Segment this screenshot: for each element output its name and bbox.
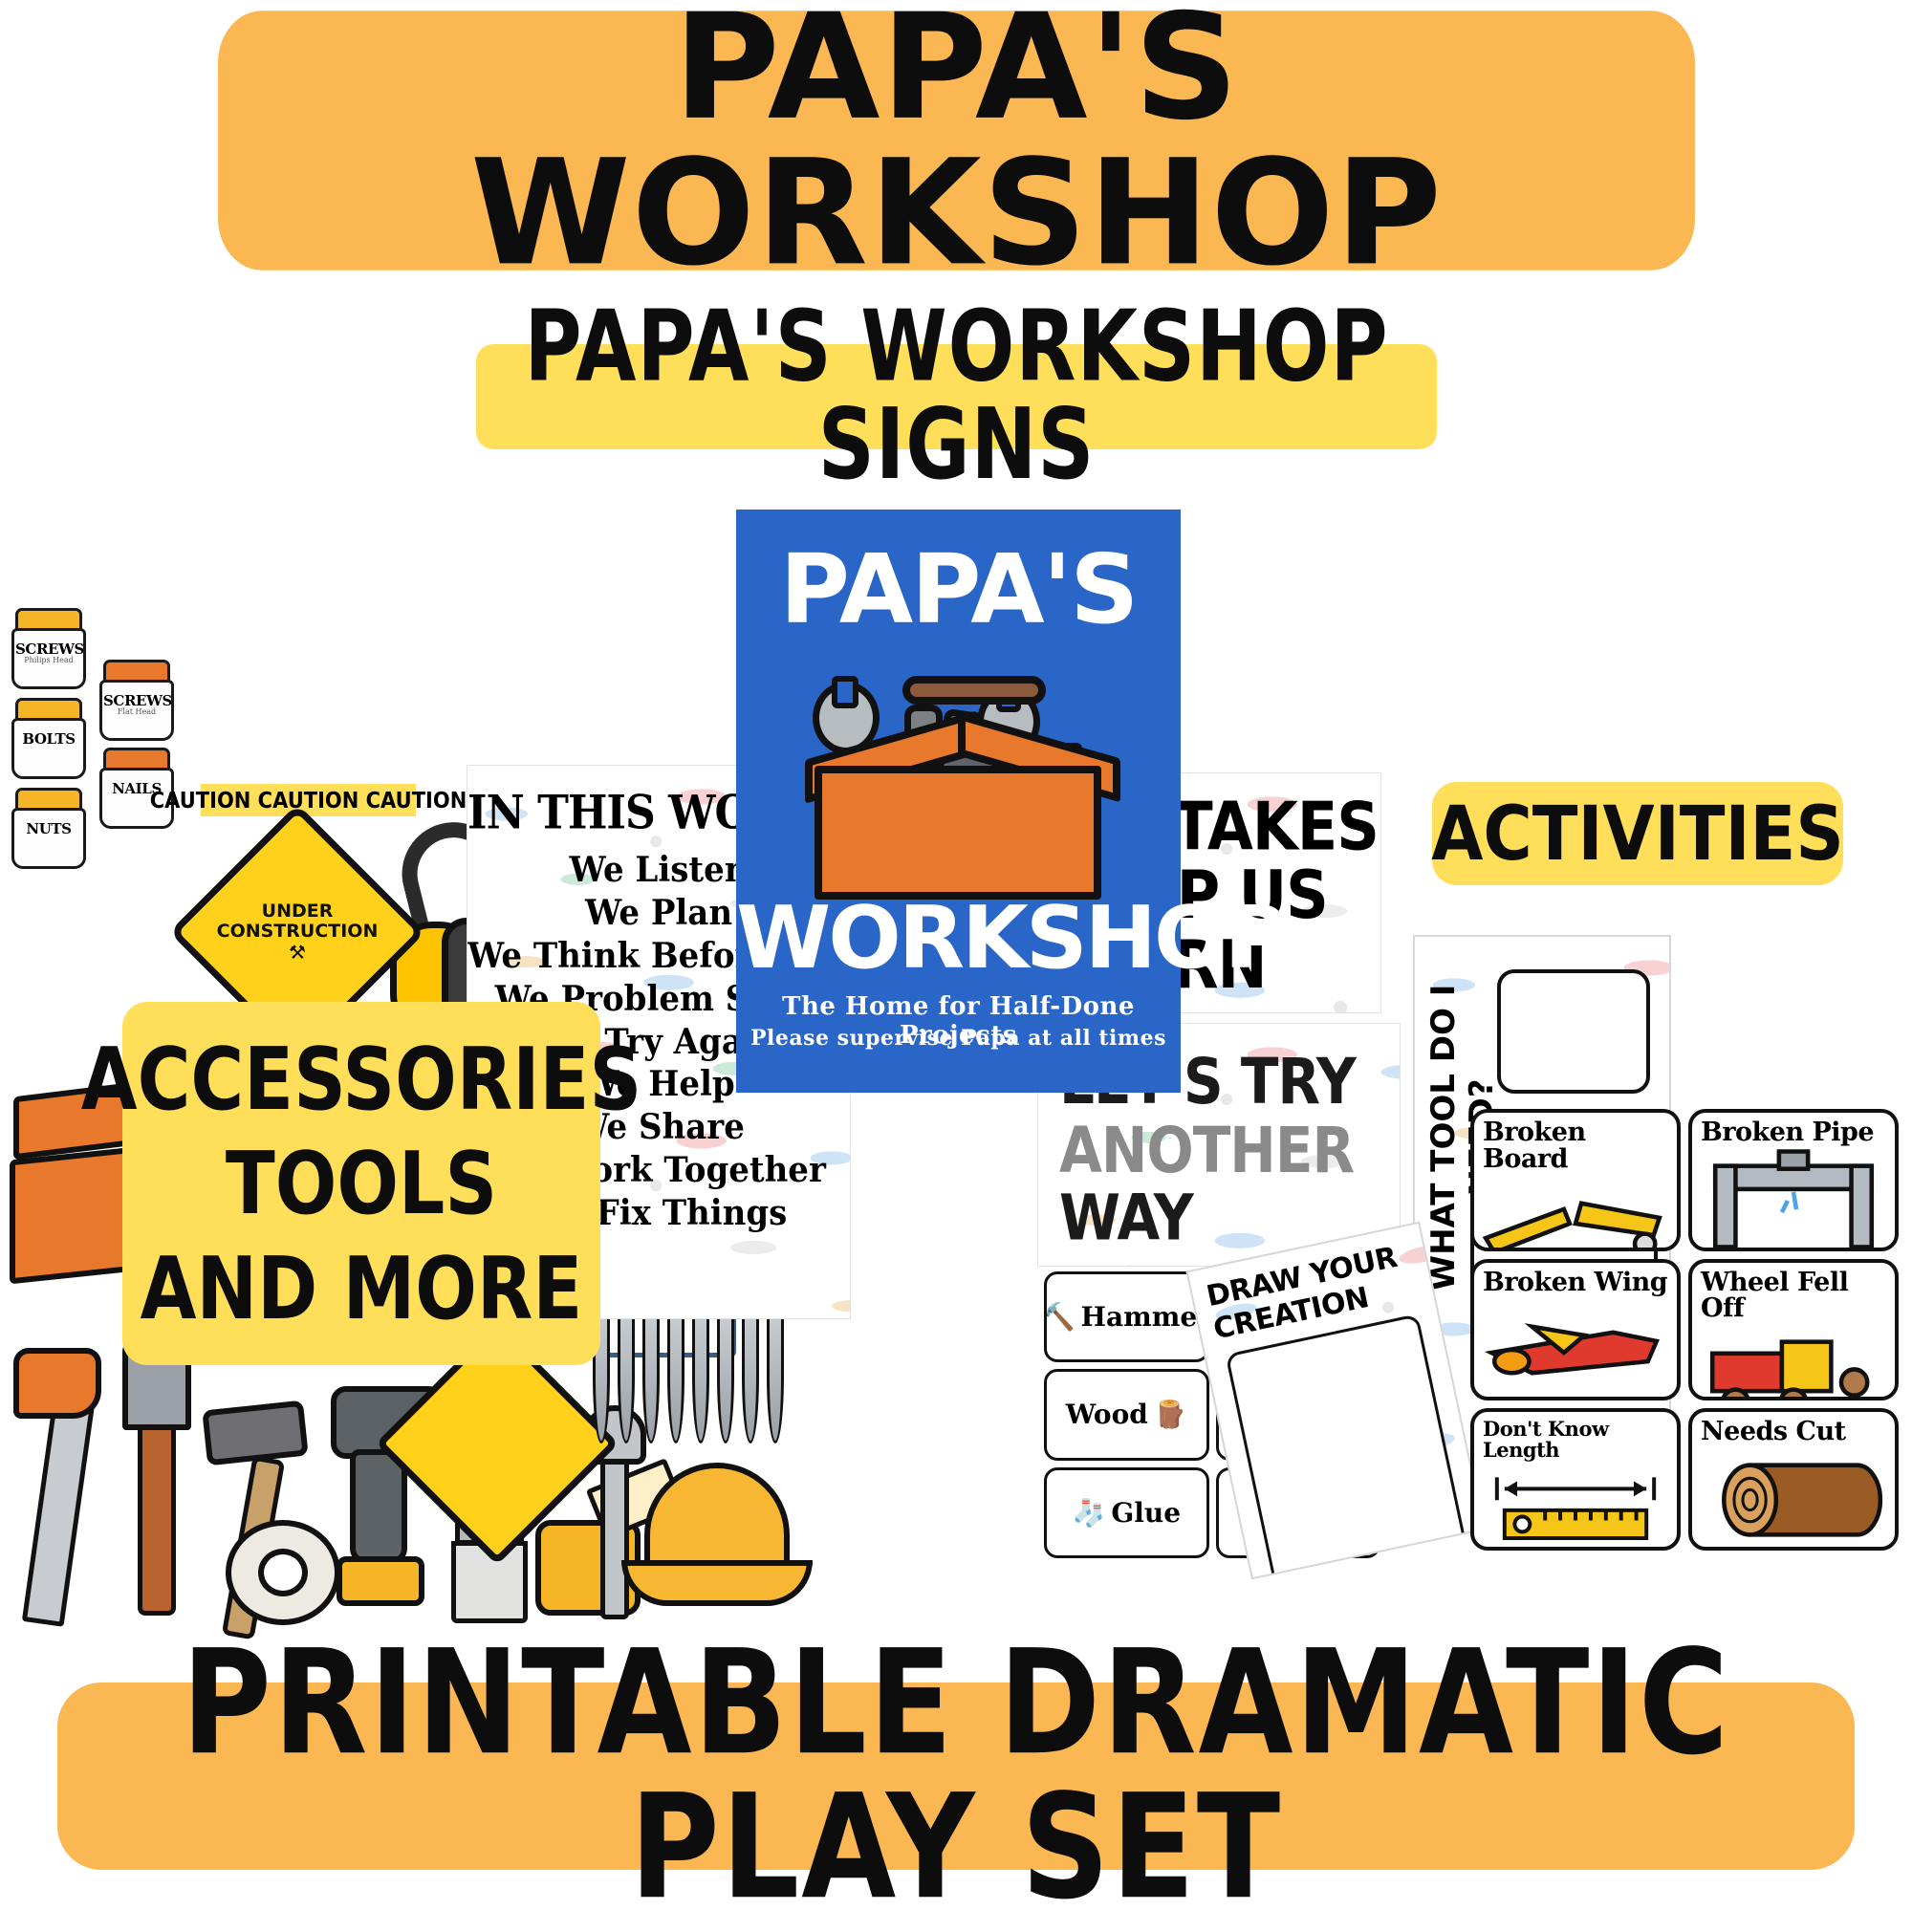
tape-roll-icon (226, 1520, 340, 1625)
problem-card-broken-pipe[interactable]: Broken Pipe (1688, 1109, 1899, 1251)
footer-title: PRINTABLE DRAMATIC PLAY SET (57, 1632, 1855, 1921)
problem-card-wheel-fell-off[interactable]: Wheel Fell Off (1688, 1259, 1899, 1401)
jar-bolts: BOLTS (8, 698, 90, 780)
jar-label: BOLTS (15, 730, 82, 748)
hard-hat-dome (644, 1463, 790, 1575)
subtitle-text: PAPA'S WORKSHOP SIGNS (476, 299, 1437, 495)
vocab-card-hammer[interactable]: 🔨 Hammer (1044, 1271, 1209, 1362)
uc-line-2: CONSTRUCTION (217, 922, 379, 942)
toolbox-body (815, 766, 1101, 900)
jar-sublabel: Philips Head (15, 656, 82, 664)
caution-diamond-sign (411, 1357, 583, 1530)
vocab-label: Hammer (1080, 1301, 1208, 1333)
jar-screws-flat: SCREWS Flat Head (96, 660, 178, 742)
pipe-wrench-icon (105, 1338, 210, 1625)
screw-icon (642, 1310, 660, 1444)
saw-handle (13, 1348, 101, 1419)
jar-sublabel: Flat Head (103, 707, 170, 716)
problem-card-dont-know-length[interactable]: Don't Know Length (1470, 1408, 1681, 1551)
screw-icon (618, 1310, 635, 1444)
problem-card-broken-wing[interactable]: Broken Wing (1470, 1259, 1681, 1401)
broken-skateboard-icon (1474, 1172, 1677, 1251)
hammer-icon: 🔨 (1044, 1301, 1075, 1333)
under-construction-sign: UNDER CONSTRUCTION ⚒ (206, 841, 388, 1023)
toolbox-handle (902, 676, 1046, 705)
jar-body (11, 808, 86, 869)
under-construction-text: UNDER CONSTRUCTION ⚒ (206, 841, 388, 1023)
jar-nuts: NUTS (8, 788, 90, 870)
vocab-card-wood[interactable]: Wood 🪵 (1044, 1369, 1209, 1460)
problem-label: Don't Know Length (1474, 1412, 1677, 1460)
poster-toolbox-illustration (790, 643, 1130, 906)
jar-label: NUTS (15, 820, 82, 837)
wrench-shaft (138, 1405, 176, 1616)
caution-tape-text: CAUTION CAUTION CAUTION (150, 788, 467, 814)
glue-icon: 🧦 (1072, 1497, 1105, 1529)
screw-icon (692, 1310, 709, 1444)
screw-icon (742, 1310, 759, 1444)
caution-tape-sign: CAUTION CAUTION CAUTION (201, 784, 416, 816)
problem-label: Needs Cut (1692, 1412, 1895, 1445)
another-way-line-2: ANOTHER (1059, 1116, 1400, 1183)
problem-card-needs-cut[interactable]: Needs Cut (1688, 1408, 1899, 1551)
screw-icon (717, 1310, 734, 1444)
worker-icon: ⚒ (289, 942, 306, 963)
problem-label: Broken Wing (1474, 1263, 1677, 1296)
activities-label: ACTIVITIES (1432, 782, 1843, 885)
screw-icon (767, 1310, 784, 1444)
hammer-head (202, 1400, 308, 1466)
accessories-line-2: TOOLS (226, 1136, 497, 1231)
page-title: PAPA'S WORKSHOP (218, 0, 1695, 286)
log-icon (1692, 1445, 1895, 1551)
problem-label: Wheel Fell Off (1692, 1263, 1895, 1322)
vocab-label: Glue (1111, 1497, 1181, 1529)
poster-title-line-1: PAPA'S (736, 542, 1181, 638)
accessories-line-1: ACCESSORIES (81, 1031, 641, 1126)
papas-workshop-poster: PAPA'S WORKSHOP The Home for Half-Done P… (736, 510, 1181, 1093)
vocab-label: Wood (1066, 1399, 1148, 1430)
leaking-pipe-icon (1692, 1146, 1895, 1251)
tool-answer-slot[interactable] (1497, 969, 1650, 1094)
toy-train-icon (1692, 1322, 1895, 1401)
page-title-banner: PAPA'S WORKSHOP (218, 11, 1695, 270)
footer-banner: PRINTABLE DRAMATIC PLAY SET (57, 1682, 1855, 1870)
screws-row (593, 1310, 832, 1453)
jar-body (11, 718, 86, 779)
saw-blade (22, 1384, 97, 1627)
accessories-tools-and-more-label: ACCESSORIES TOOLS AND MORE (122, 1002, 600, 1365)
poster-title-line-2: WORKSHOP (736, 896, 1181, 982)
activities-label-text: ACTIVITIES (1431, 792, 1844, 876)
hard-hat-brim (621, 1560, 813, 1606)
jar-screws-philips: SCREWS Philips Head (8, 608, 90, 690)
uc-line-1: UNDER (262, 901, 334, 922)
problem-label: Broken Board (1474, 1113, 1677, 1172)
drill-battery (337, 1556, 424, 1606)
wood-icon: 🪵 (1154, 1399, 1187, 1430)
hard-hat-icon (621, 1453, 813, 1625)
problem-label: Broken Pipe (1692, 1113, 1895, 1146)
ruler-icon (1474, 1460, 1677, 1551)
toy-plane-icon (1474, 1295, 1677, 1400)
problem-card-broken-board[interactable]: Broken Board (1470, 1109, 1681, 1251)
accessories-line-3: AND MORE (141, 1240, 583, 1335)
tape-inner (258, 1549, 308, 1596)
screw-icon (667, 1310, 684, 1444)
problem-cards-grid: Broken Board Broken Pipe (1470, 1109, 1899, 1551)
wrench-gap (832, 676, 858, 708)
drawing-area[interactable] (1225, 1313, 1467, 1579)
poster-tagline-2: Please supervise Papa at all times (736, 1026, 1181, 1051)
subtitle-banner: PAPA'S WORKSHOP SIGNS (476, 344, 1437, 449)
vocab-card-glue[interactable]: 🧦 Glue (1044, 1467, 1209, 1558)
